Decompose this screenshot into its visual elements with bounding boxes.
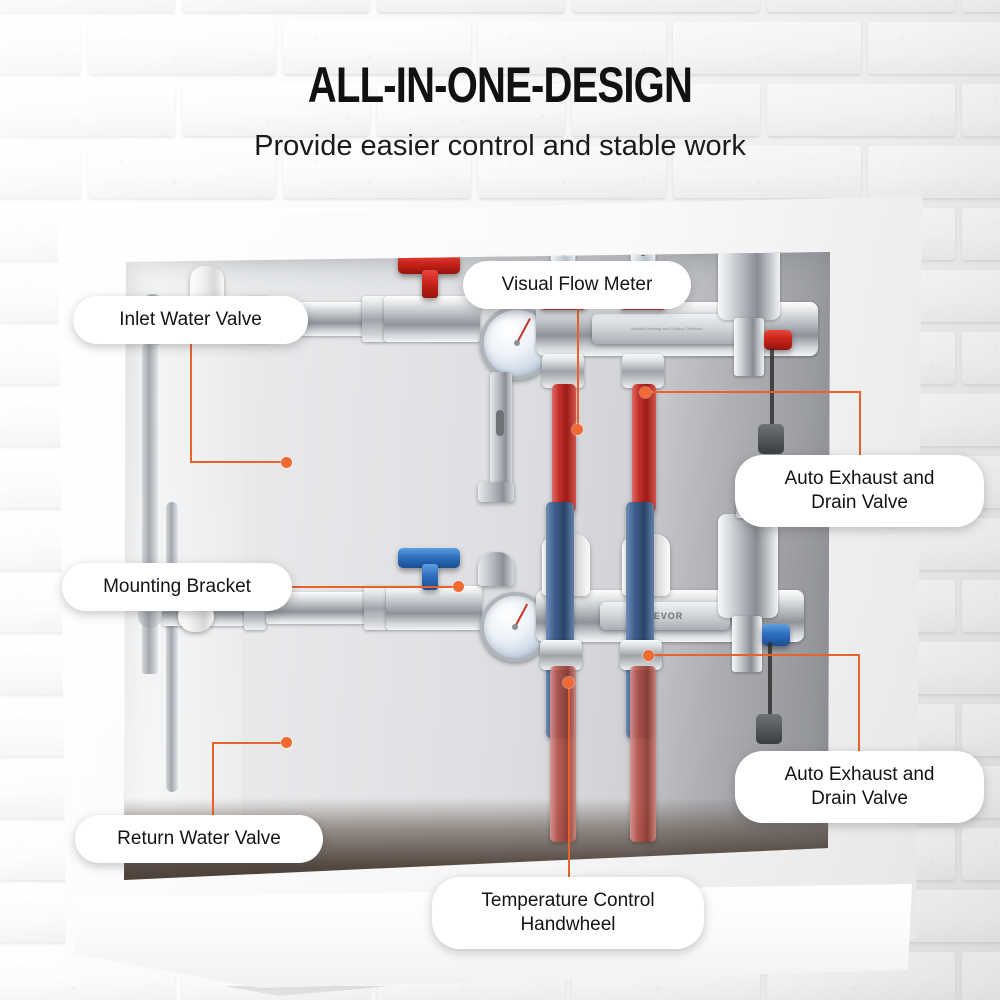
- leader-auto-exhaust-bottom-horizontal: [648, 654, 860, 656]
- infographic-stage: Manifold Heating and Cooling Certificate: [0, 0, 1000, 1000]
- auto-exhaust-valve-bottom-body: [718, 514, 778, 618]
- callout-label: Return Water Valve: [117, 827, 281, 851]
- callout-mounting-bracket[interactable]: Mounting Bracket: [62, 563, 292, 611]
- callout-label-line2: Handwheel: [520, 913, 615, 937]
- mounting-bracket-foot: [478, 482, 514, 502]
- leader-dot-inlet-valve: [281, 457, 292, 468]
- callout-label: Inlet Water Valve: [119, 308, 262, 332]
- leader-dot-mounting-bracket: [453, 581, 464, 592]
- auto-exhaust-valve-top-neck: [734, 318, 764, 376]
- insulated-riser-2: [630, 666, 656, 842]
- page-title: ALL-IN-ONE-DESIGN: [100, 56, 900, 114]
- gauge-hub: [514, 340, 520, 346]
- leader-dot-temperature-handwheel: [563, 677, 574, 688]
- supply-pipe-2: [632, 384, 656, 512]
- callout-visual-flow-meter[interactable]: Visual Flow Meter: [463, 261, 691, 309]
- drain-cap-top: [758, 424, 784, 454]
- supply-pipe-1: [552, 384, 576, 512]
- callout-label-line1: Auto Exhaust and: [785, 763, 935, 787]
- page-subtitle: Provide easier control and stable work: [0, 130, 1000, 163]
- leader-dot-auto-exhaust-top: [640, 387, 651, 398]
- leader-dot-visual-flow-meter: [572, 424, 583, 435]
- lower-manifold-brand-plate: VEVOR: [600, 602, 730, 630]
- leader-mounting-bracket: [290, 586, 458, 588]
- leader-dot-auto-exhaust-bottom: [643, 650, 654, 661]
- lower-bracket-clamp: [478, 552, 514, 586]
- callout-temperature-control-handwheel[interactable]: Temperature Control Handwheel: [432, 877, 704, 949]
- leader-return-valve-vertical: [212, 742, 214, 820]
- return-ball-valve-body: [386, 586, 482, 630]
- supply-ball-valve-body: [384, 296, 480, 342]
- leader-temperature-handwheel: [568, 682, 570, 878]
- leader-inlet-valve-vertical: [190, 338, 192, 462]
- callout-label-line1: Temperature Control: [481, 889, 654, 913]
- mounting-bracket-slot: [496, 410, 504, 436]
- upper-manifold-plate-text: Manifold Heating and Cooling Certificate: [631, 326, 703, 332]
- leader-visual-flow-meter: [577, 305, 579, 430]
- gauge-hub-2: [512, 624, 518, 630]
- callout-return-water-valve[interactable]: Return Water Valve: [75, 815, 323, 863]
- callout-label-line2: Drain Valve: [811, 787, 908, 811]
- callout-label: Mounting Bracket: [103, 575, 251, 599]
- callout-auto-exhaust-drain-valve-bottom[interactable]: Auto Exhaust and Drain Valve: [735, 751, 984, 823]
- callout-auto-exhaust-drain-valve-top[interactable]: Auto Exhaust and Drain Valve: [735, 455, 984, 527]
- drain-cap-bottom: [756, 714, 782, 744]
- supply-outlet-nut-2: [622, 354, 664, 388]
- leader-return-valve-horizontal: [212, 742, 286, 744]
- return-union-nut: [364, 586, 388, 630]
- insulated-riser-1: [550, 666, 576, 842]
- drain-valve-top-red-lever: [764, 330, 792, 350]
- leader-auto-exhaust-top-vertical: [859, 391, 861, 455]
- drain-cap-tether-top: [770, 348, 774, 430]
- inlet-union-nut: [362, 296, 386, 342]
- auto-exhaust-valve-bottom-neck: [732, 616, 762, 672]
- callout-inlet-water-valve[interactable]: Inlet Water Valve: [73, 296, 308, 344]
- drain-valve-bottom-blue-lever: [762, 624, 790, 646]
- upper-manifold-label-plate: Manifold Heating and Cooling Certificate: [592, 314, 742, 344]
- callout-label-line2: Drain Valve: [811, 491, 908, 515]
- leader-auto-exhaust-bottom-vertical: [858, 654, 860, 752]
- leader-auto-exhaust-top-horizontal: [645, 391, 861, 393]
- callout-label-line1: Auto Exhaust and: [785, 467, 935, 491]
- flexible-conduit-2: [166, 502, 178, 792]
- supply-valve-handle-stem: [422, 270, 438, 298]
- leader-inlet-valve-horizontal: [190, 461, 286, 463]
- leader-dot-return-valve: [281, 737, 292, 748]
- callout-label: Visual Flow Meter: [502, 273, 653, 297]
